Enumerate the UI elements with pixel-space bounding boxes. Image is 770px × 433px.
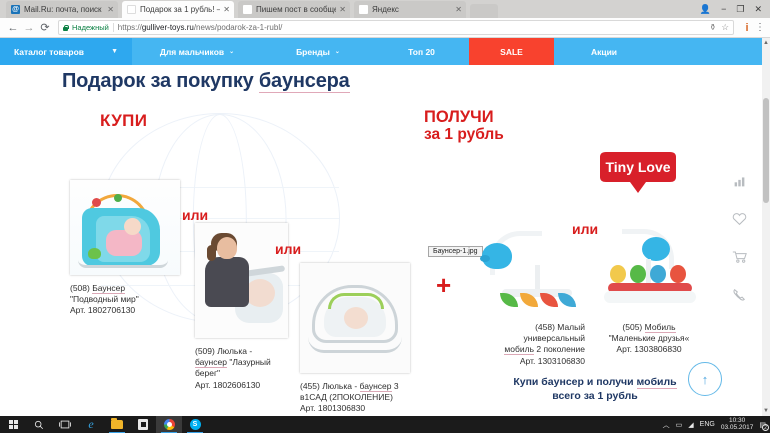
product-code: (458) Малый [477,322,585,333]
close-icon[interactable]: ✕ [339,5,346,14]
svg-text:Tiny Love: Tiny Love [605,159,670,175]
scroll-down-arrow[interactable]: ▼ [762,406,770,416]
nav-top20[interactable]: Топ 20 [374,38,469,65]
vk-icon: B [243,5,252,14]
minimize-button[interactable]: − [721,5,726,14]
gulliver-icon: G [127,5,136,14]
close-icon[interactable]: ✕ [455,5,462,14]
mailru-icon: @ [11,5,20,14]
product-link[interactable]: Мобиль [645,322,676,333]
maximize-button[interactable]: ❐ [736,5,744,14]
arrow-up-icon: ↑ [702,372,709,387]
security-label: Надежный [72,23,109,32]
nav-label: Бренды [296,47,330,57]
compare-icon[interactable] [733,175,746,188]
account-icon[interactable]: 👤 [700,5,711,14]
product-art: Арт. 1801306830 [300,403,460,414]
microsoft-store-icon[interactable] [130,416,156,433]
browser-tab-bar: @ Mail.Ru: почта, поиск в ✕ G Подарок за… [0,0,770,18]
lock-icon [63,25,68,31]
product-caption-508: (508) Баунсер "Подводный мир" Арт. 18027… [70,283,205,317]
scroll-to-top-button[interactable]: ↑ [688,362,722,396]
product-art: Арт. 1802606130 [195,380,305,391]
product-caption-509: (509) Люлька - баунсер "Лазурный берег" … [195,346,305,391]
browser-menu-icon[interactable]: ⋮ [755,22,765,33]
nav-catalog[interactable]: Каталог товаров ▼ [0,38,132,65]
forward-icon[interactable]: → [21,22,37,34]
chevron-down-icon: ⌄ [335,48,340,55]
or-label-1: или [182,207,208,223]
plus-sign: + [436,270,451,301]
product-art: Арт. 1303806830 [590,344,708,355]
nav-label: SALE [500,47,523,57]
address-bar[interactable]: Надежный https://gulliver-toys.ru/news/p… [58,20,734,35]
phone-icon[interactable] [732,288,746,302]
reload-icon[interactable]: ⟳ [37,21,53,34]
article-content: Подарок за покупку баунсера КУПИ ПОЛУЧИ … [0,65,762,416]
profile-icon[interactable]: i [739,22,755,34]
yandex-icon: Я [359,5,368,14]
or-label-2: или [275,241,301,257]
edge-icon[interactable]: e [78,416,104,433]
nav-label: Топ 20 [408,47,435,57]
tiny-love-logo: Tiny Love [592,151,684,197]
product-photo-455[interactable] [300,263,410,373]
product-photo-458[interactable] [480,225,580,315]
bookmark-star-icon[interactable]: ☆ [721,22,729,33]
side-rail [726,175,752,302]
notifications-icon[interactable]: ▤2 [759,421,766,429]
notification-badge: 2 [762,424,769,431]
heart-icon[interactable] [732,212,747,226]
browser-tab-title: Подарок за 1 рубль! – Н [140,5,220,14]
url-text: https://gulliver-toys.ru/news/podarok-za… [118,23,283,32]
web-page: Каталог товаров ▼ Для мальчиков ⌄ Бренды… [0,38,762,416]
scrollbar-thumb[interactable] [763,98,769,203]
site-navigation: Каталог товаров ▼ Для мальчиков ⌄ Бренды… [0,38,762,65]
product-art: Арт. 1802706130 [70,305,205,316]
language-indicator[interactable]: ENG [700,421,715,428]
product-link[interactable]: Баунсер [92,283,125,294]
product-name: "Маленькие друзья« [590,333,708,344]
network-icon[interactable]: ◢ [688,421,693,429]
page-scrollbar[interactable]: ▲ ▼ [762,38,770,416]
tray-expand-icon[interactable]: ︿ [663,420,670,430]
extension-icon[interactable]: ⚱ [709,22,716,33]
image-tooltip: Баунсер-1.jpg [428,246,483,257]
screen: @ Mail.Ru: почта, поиск в ✕ G Подарок за… [0,0,770,433]
product-caption-455: (455) Люлька - баунсер 3 в1САД (2ПОКОЛЕН… [300,381,460,415]
nav-boys[interactable]: Для мальчиков ⌄ [132,38,262,65]
battery-icon[interactable]: ▭ [676,421,683,429]
nav-label: Акции [591,47,617,57]
chevron-down-icon: ⌄ [229,48,234,55]
new-tab-button[interactable] [470,4,498,18]
browser-tab-1[interactable]: G Подарок за 1 рубль! – Н ✕ [122,1,234,18]
product-link[interactable]: баунсер [360,381,392,392]
product-name: универсальный [477,333,585,344]
product-art: Арт. 1303106830 [477,356,585,367]
omnibox-actions: ⚱ ☆ [709,22,729,33]
search-icon[interactable] [26,416,52,433]
browser-tab-3[interactable]: Я Яндекс ✕ [354,1,466,18]
browser-toolbar: ← → ⟳ Надежный https://gulliver-toys.ru/… [0,18,770,38]
promo-footer-line2: всего за 1 рубль [470,389,720,403]
divider [113,23,114,32]
browser-tab-title: Яндекс [372,5,452,14]
file-explorer-icon[interactable] [104,416,130,433]
task-view-icon[interactable] [52,416,78,433]
skype-icon[interactable]: S [182,416,208,433]
nav-label: Для мальчиков [160,47,224,57]
browser-tab-title: Mail.Ru: почта, поиск в [24,5,104,14]
start-button[interactable] [0,416,26,433]
nav-brands[interactable]: Бренды ⌄ [262,38,374,65]
windows-taskbar: e S ︿ ▭ ◢ ENG 10:30 03.05.2017 ▤2 [0,416,770,433]
nav-akcii[interactable]: Акции [554,38,654,65]
back-icon[interactable]: ← [5,22,21,34]
close-icon[interactable]: ✕ [107,5,114,14]
close-window-button[interactable]: ✕ [754,5,762,14]
product-link[interactable]: баунсер [195,357,227,368]
nav-label: Каталог товаров [14,47,84,57]
browser-tab-0[interactable]: @ Mail.Ru: почта, поиск в ✕ [6,1,118,18]
scroll-up-arrow[interactable]: ▲ [762,38,770,48]
window-controls: 👤 − ❐ ✕ [700,0,768,18]
product-photo-505[interactable] [600,225,700,315]
product-link[interactable]: мобиль [637,376,677,389]
product-caption-458: (458) Малый универсальный мобиль 2 покол… [477,322,585,367]
browser-tab-2[interactable]: B Пишем пост в сообщес ✕ [238,1,350,18]
nav-sale[interactable]: SALE [469,38,554,65]
product-photo-508[interactable] [70,180,180,275]
buy-heading: КУПИ [100,111,147,131]
get-heading: ПОЛУЧИ за 1 рубль [424,108,504,144]
clock-date: 03.05.2017 [721,425,754,432]
system-tray: ︿ ▭ ◢ ENG 10:30 03.05.2017 ▤2 [663,418,770,432]
page-title: Подарок за покупку баунсера [62,70,350,93]
product-name: в1САД (2ПОКОЛЕНИЕ) [300,392,460,403]
product-name: "Подводный мир" [70,294,205,305]
product-code: (509) Люлька - [195,346,305,357]
product-caption-505: (505) Мобиль "Маленькие друзья« Арт. 130… [590,322,708,356]
windows-logo-icon [9,420,18,429]
product-link[interactable]: мобиль [504,344,534,355]
promo-footer: Купи баунсер и получи мобиль всего за 1 … [470,375,720,403]
browser-tab-title: Пишем пост в сообщес [256,5,336,14]
chrome-icon[interactable] [156,416,182,433]
close-icon[interactable]: ✕ [223,5,230,14]
cart-icon[interactable] [732,250,747,264]
chevron-down-icon: ▼ [111,48,118,55]
clock[interactable]: 10:30 03.05.2017 [721,418,754,432]
